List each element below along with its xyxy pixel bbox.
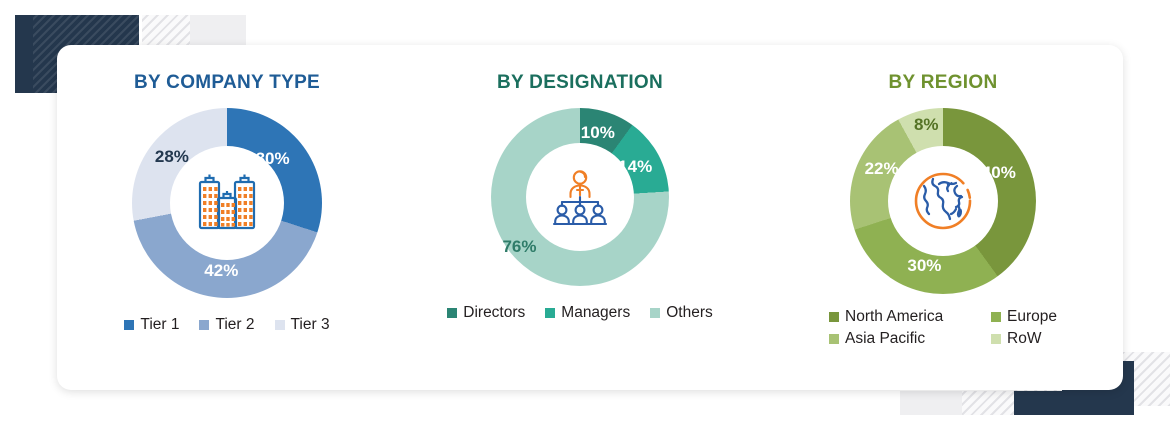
- designation-slice-label-directors: 10%: [581, 123, 615, 143]
- legend-swatch-row: [991, 334, 1001, 344]
- legend-item-directors[interactable]: Directors: [447, 304, 525, 322]
- legend-label-europe: Europe: [1007, 308, 1057, 326]
- legend-label-managers: Managers: [561, 304, 630, 322]
- region-slice-label-row: 8%: [914, 115, 939, 135]
- decor-top-left-navy-bar: [15, 15, 33, 93]
- legend-label-others: Others: [666, 304, 713, 322]
- legend-item-europe[interactable]: Europe: [991, 308, 1057, 326]
- legend-item-tier-3[interactable]: Tier 3: [275, 316, 330, 334]
- region-slice-label-north-america: 40%: [982, 163, 1016, 183]
- company-type-donut[interactable]: 30% 42% 28%: [132, 108, 322, 298]
- designation-slice-label-managers: 14%: [618, 157, 652, 177]
- legend-swatch-tier-3: [275, 320, 285, 330]
- legend-item-north-america[interactable]: North America: [829, 308, 981, 326]
- globe-icon: [911, 169, 975, 233]
- designation-title: BY DESIGNATION: [497, 72, 663, 94]
- office-buildings-icon: [194, 172, 260, 234]
- region-slice-label-asia-pacific: 22%: [865, 159, 899, 179]
- legend-swatch-managers: [545, 308, 555, 318]
- legend-item-others[interactable]: Others: [650, 304, 713, 322]
- legend-swatch-tier-2: [199, 320, 209, 330]
- infographic-canvas: BY COMPANY TYPE: [0, 0, 1170, 444]
- panel-designation: BY DESIGNATION: [415, 45, 745, 390]
- company-type-legend: Tier 1 Tier 2 Tier 3: [124, 316, 329, 334]
- decor-bottom-right-navy-foot: [1014, 391, 1134, 415]
- designation-donut-wrap: 10% 14% 76%: [491, 108, 669, 286]
- company-slice-label-tier2: 42%: [204, 261, 238, 281]
- region-donut-wrap: 40% 30% 22% 8%: [850, 108, 1036, 294]
- legend-swatch-europe: [991, 312, 1001, 322]
- legend-item-asia-pacific[interactable]: Asia Pacific: [829, 330, 981, 348]
- region-slice-label-europe: 30%: [907, 256, 941, 276]
- region-donut[interactable]: 40% 30% 22% 8%: [850, 108, 1036, 294]
- org-chart-people-icon: [549, 168, 611, 226]
- company-type-title: BY COMPANY TYPE: [134, 72, 320, 94]
- legend-label-tier-3: Tier 3: [291, 316, 330, 334]
- legend-item-row[interactable]: RoW: [991, 330, 1057, 348]
- legend-label-asia-pacific: Asia Pacific: [845, 330, 925, 348]
- company-slice-label-tier3: 28%: [155, 147, 189, 167]
- panel-region: BY REGION: [763, 45, 1123, 390]
- region-title: BY REGION: [889, 72, 998, 94]
- legend-swatch-asia-pacific: [829, 334, 839, 344]
- legend-label-directors: Directors: [463, 304, 525, 322]
- legend-item-tier-1[interactable]: Tier 1: [124, 316, 179, 334]
- legend-swatch-others: [650, 308, 660, 318]
- legend-label-row: RoW: [1007, 330, 1041, 348]
- legend-swatch-tier-1: [124, 320, 134, 330]
- designation-donut[interactable]: 10% 14% 76%: [491, 108, 669, 286]
- legend-swatch-north-america: [829, 312, 839, 322]
- legend-item-tier-2[interactable]: Tier 2: [199, 316, 254, 334]
- legend-label-tier-1: Tier 1: [140, 316, 179, 334]
- panel-company-type: BY COMPANY TYPE: [57, 45, 397, 390]
- legend-label-north-america: North America: [845, 308, 943, 326]
- decor-bottom-right-gray-block: [900, 391, 962, 415]
- charts-card: BY COMPANY TYPE: [57, 45, 1123, 390]
- company-slice-label-tier1: 30%: [256, 149, 290, 169]
- legend-item-managers[interactable]: Managers: [545, 304, 630, 322]
- designation-legend: Directors Managers Others: [447, 304, 712, 322]
- legend-label-tier-2: Tier 2: [215, 316, 254, 334]
- designation-slice-label-others: 76%: [502, 237, 536, 257]
- legend-swatch-directors: [447, 308, 457, 318]
- region-legend: North America Europe Asia Pacific RoW: [829, 308, 1057, 348]
- company-type-donut-wrap: 30% 42% 28%: [132, 108, 322, 298]
